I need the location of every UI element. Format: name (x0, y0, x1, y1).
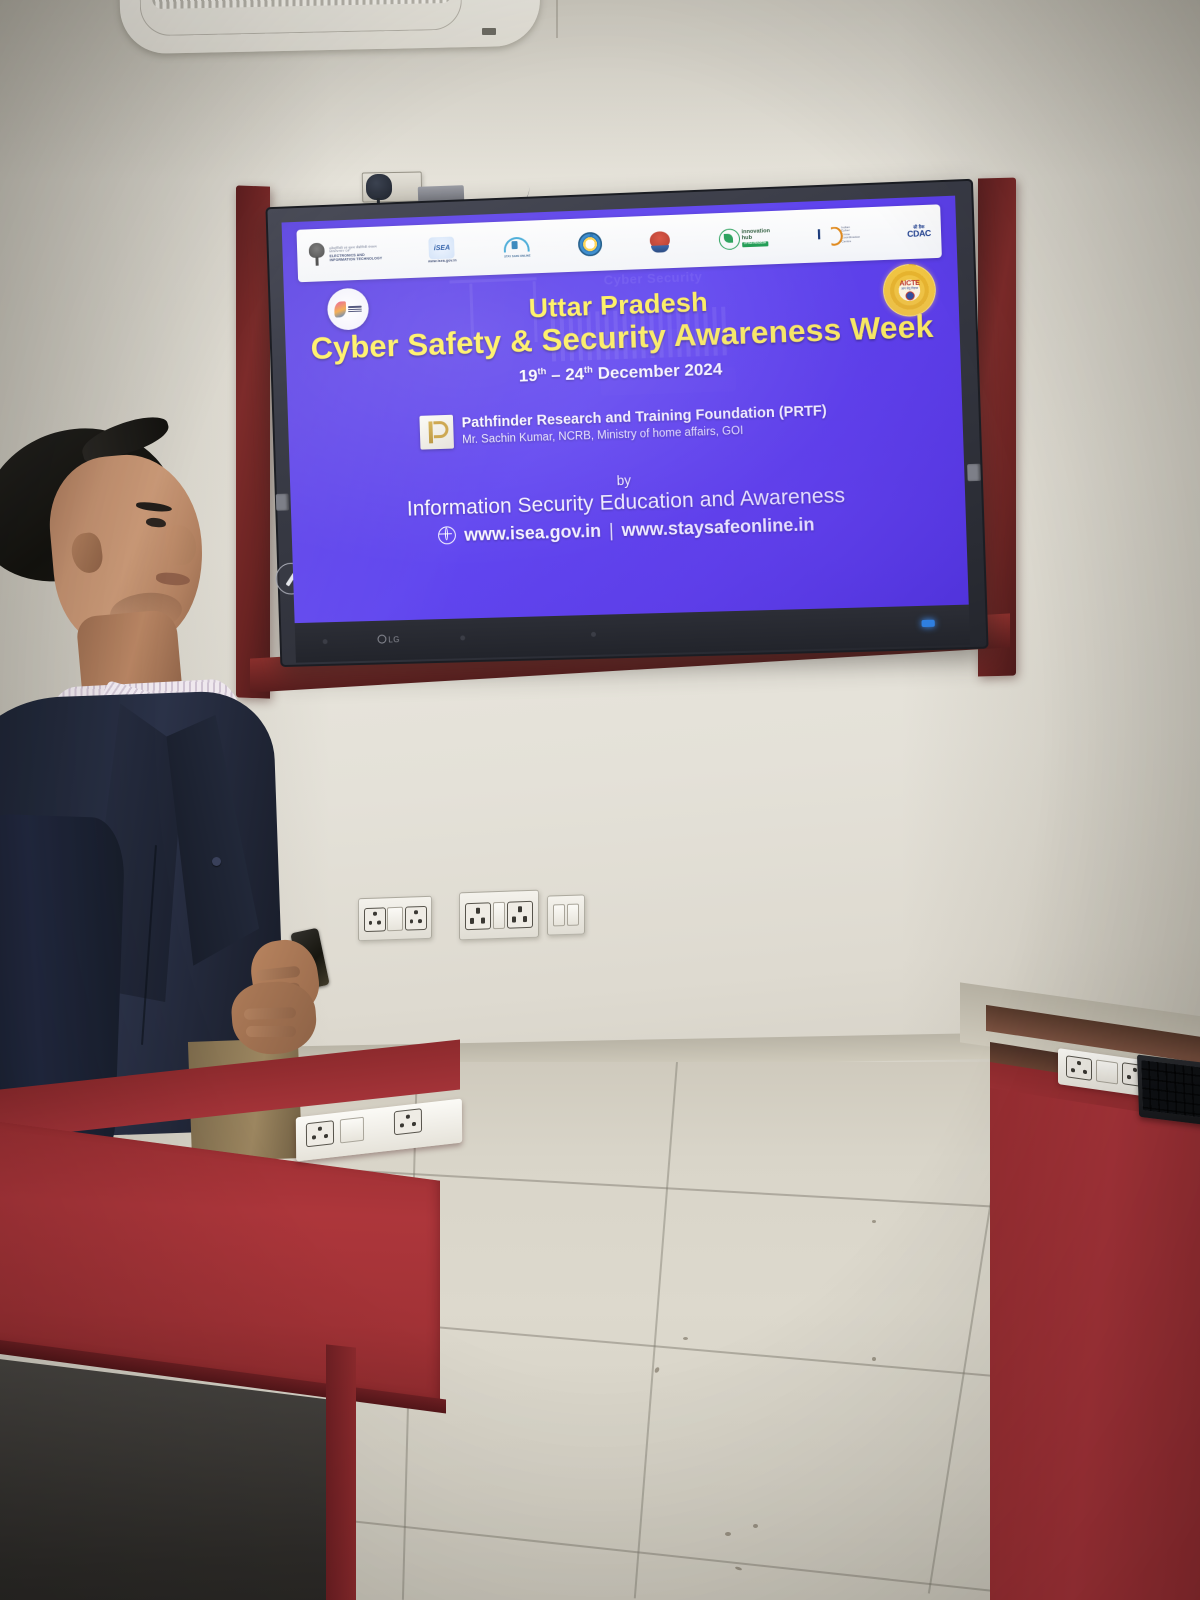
logo-innovation-hub: innovation hub UTTAR PRADESH (718, 227, 770, 250)
desk-switch-right[interactable] (1096, 1059, 1118, 1084)
left-desk-leg (326, 1344, 356, 1600)
inserted-plug (366, 174, 392, 200)
socket-outlet-2b[interactable] (507, 901, 533, 929)
ceiling-seam (556, 0, 558, 38)
ir-sensor-icon-2 (460, 635, 465, 640)
cdac-english: CDAC (907, 229, 931, 238)
left-desk (0, 1096, 460, 1600)
aktu-gear-icon (578, 232, 603, 257)
person-finger-3 (244, 1007, 296, 1020)
switch-3a[interactable] (553, 904, 565, 926)
innovation-badge: UTTAR PRADESH (742, 242, 768, 247)
slide-content: AICTE ज्ञान सेतु विज्ञान Uttar Pradesh C… (284, 257, 969, 623)
aicte-core: AICTE ज्ञान सेतु विज्ञान (894, 275, 925, 306)
ir-sensor-icon-3 (591, 632, 596, 637)
switch-3b[interactable] (567, 904, 579, 926)
wall-socket-plate-1[interactable] (358, 896, 432, 942)
i4c-icon: I (817, 225, 840, 246)
date-start: 19 (519, 366, 538, 386)
organizer-block: Pathfinder Research and Training Foundat… (288, 397, 963, 453)
date-start-sup: th (537, 366, 546, 377)
lg-brand-text: LG (388, 635, 400, 644)
up-police-icon (648, 228, 673, 255)
person-finger-4 (246, 1026, 296, 1037)
display-screen[interactable]: Cyber Security इलेक्ट्रॉनिकी एवं सूचना प… (282, 196, 969, 623)
lock-icon (512, 241, 518, 249)
meity-line3: INFORMATION TECHNOLOGY (330, 256, 383, 262)
organizer-text: Pathfinder Research and Training Foundat… (461, 403, 827, 446)
aicte-inner-seal (905, 291, 914, 300)
isea-url: www.isea.gov.in (428, 259, 457, 264)
left-desk-front (0, 1114, 440, 1411)
innovation-hub-caption: innovation hub UTTAR PRADESH (741, 229, 770, 247)
india-state-emblem-icon (307, 242, 327, 268)
mic-flame-icon (334, 302, 346, 318)
url-secondary[interactable]: www.staysafeonline.in (621, 514, 815, 541)
mic-text-lines (348, 306, 362, 313)
blazer-button (212, 857, 221, 866)
logo-i4c: I Indian Cyber Crime Coordination Centre (817, 224, 861, 246)
date-end: December 2024 (593, 359, 723, 383)
stay-safe-online-icon: STAY SAFE ONLINE (502, 235, 532, 260)
date-mid: – 24 (546, 364, 584, 384)
wall-socket-plate-2[interactable] (459, 890, 539, 941)
meity-caption: इलेक्ट्रॉनिकी एवं सूचना प्रौद्योगिकी मंत… (329, 245, 382, 262)
switch-2[interactable] (493, 902, 505, 929)
switch-1[interactable] (387, 907, 403, 932)
ssol-caption: STAY SAFE ONLINE (504, 254, 530, 259)
globe-icon (438, 526, 456, 544)
logo-isea: iSEA www.isea.gov.in (427, 237, 457, 264)
keyboard-keys[interactable] (1141, 1060, 1200, 1124)
socket-outlet-1b[interactable] (405, 906, 427, 931)
desk-switch-left[interactable] (340, 1117, 364, 1144)
photo-scene: Cyber Security इलेक्ट्रॉनिकी एवं सूचना प… (0, 0, 1200, 1600)
i4c-line5: Centre (841, 239, 860, 243)
cdac-icon: सी डैक CDAC (907, 225, 931, 239)
right-desk (990, 1040, 1200, 1600)
logo-meity: इलेक्ट्रॉनिकी एवं सूचना प्रौद्योगिकी मंत… (307, 240, 383, 269)
socket-outlet-2a[interactable] (465, 902, 491, 930)
power-led-indicator (921, 620, 934, 627)
mic-mark (334, 301, 362, 318)
lg-brand-logo: LG (377, 634, 400, 645)
aicte-motto: ज्ञान सेतु विज्ञान (901, 287, 918, 291)
wall-socket-plate-3[interactable] (547, 894, 585, 935)
logo-stay-safe-online: STAY SAFE ONLINE (502, 235, 532, 260)
innovation-leaf-icon (718, 228, 740, 250)
isea-icon: iSEA (429, 237, 455, 260)
url-primary[interactable]: www.isea.gov.in (464, 520, 602, 545)
desk-socket-1b[interactable] (394, 1108, 422, 1135)
interactive-display[interactable]: Cyber Security इलेक्ट्रॉनिकी एवं सूचना प… (265, 179, 988, 667)
i4c-caption: Indian Cyber Crime Coordination Centre (841, 225, 861, 244)
url-separator: | (609, 520, 614, 541)
logo-up-police (648, 228, 673, 255)
prtf-logo-icon (419, 414, 454, 449)
date-end-sup: th (584, 364, 593, 375)
logo-cdac: सी डैक CDAC (907, 225, 931, 239)
right-desk-front (990, 1088, 1200, 1600)
stylus-clip-right (967, 464, 981, 482)
desk-socket-2a[interactable] (1066, 1055, 1092, 1081)
socket-outlet-1a[interactable] (364, 907, 386, 932)
logo-aktu (578, 232, 603, 257)
ac-sensor-icon (482, 28, 496, 35)
desk-socket-1a[interactable] (306, 1120, 334, 1147)
